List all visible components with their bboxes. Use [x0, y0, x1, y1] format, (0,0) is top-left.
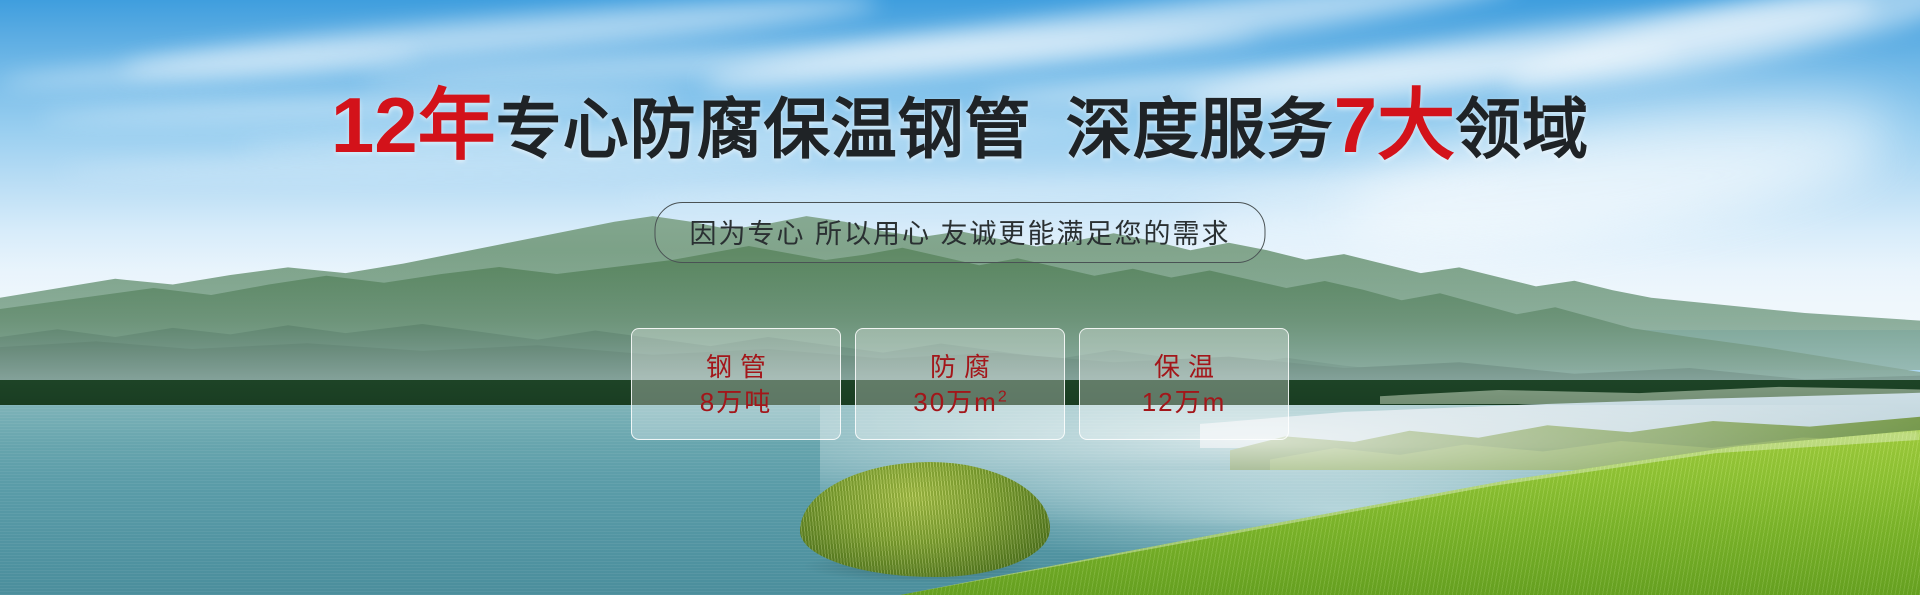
promo-banner: 12年专心防腐保温钢管深度服务7大领域 因为专心 所以用心 友诚更能满足您的需求… — [0, 0, 1920, 595]
stat-value-text: 30万m — [913, 387, 998, 417]
stat-card-steel-pipe[interactable]: 钢管 8万吨 — [631, 328, 841, 440]
stat-card-title: 钢管 — [698, 354, 774, 380]
stat-card-value: 30万m2 — [913, 389, 1007, 415]
stat-value-text: 12万m — [1142, 387, 1227, 417]
headline-seven: 7大 — [1334, 81, 1455, 169]
headline-fields: 领域 — [1455, 92, 1589, 166]
stat-card-value: 12万m — [1142, 389, 1227, 415]
stat-card-group: 钢管 8万吨 防腐 30万m2 保温 12万m — [631, 328, 1289, 440]
headline-service: 深度服务 — [1066, 92, 1334, 166]
stat-card-anticorrosion[interactable]: 防腐 30万m2 — [855, 328, 1065, 440]
stat-value-text: 8万吨 — [700, 387, 772, 417]
banner-headline: 12年专心防腐保温钢管深度服务7大领域 — [0, 86, 1920, 164]
banner-subtitle-pill: 因为专心 所以用心 友诚更能满足您的需求 — [654, 202, 1265, 263]
stat-card-insulation[interactable]: 保温 12万m — [1079, 328, 1289, 440]
stat-value-superscript: 2 — [998, 388, 1007, 405]
headline-years: 12年 — [331, 81, 496, 169]
stat-card-value: 8万吨 — [700, 389, 772, 415]
headline-main: 专心防腐保温钢管 — [496, 92, 1032, 166]
stat-card-title: 防腐 — [922, 354, 998, 380]
stat-card-title: 保温 — [1146, 354, 1222, 380]
